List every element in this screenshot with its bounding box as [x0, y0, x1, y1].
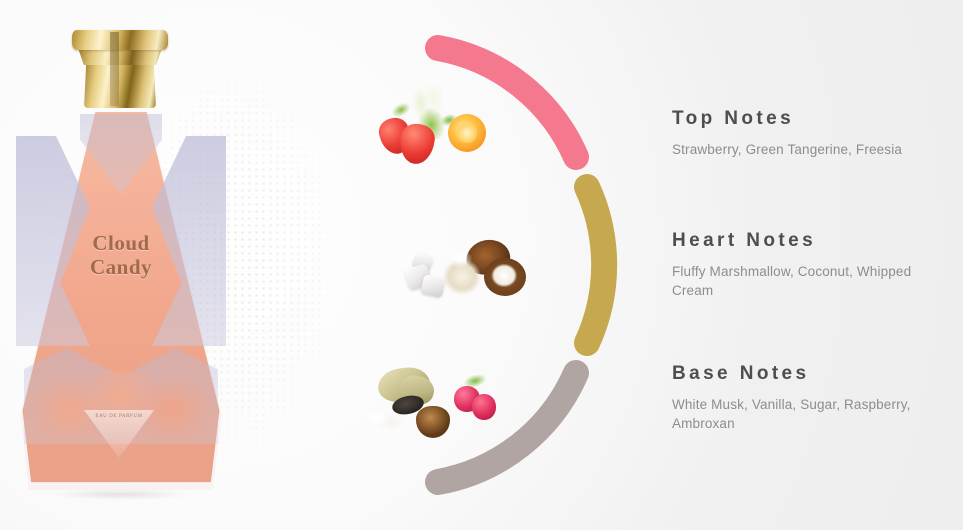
base-notes-block: Base Notes White Musk, Vanilla, Sugar, R…	[672, 363, 954, 433]
bottle-cap-neckband	[78, 48, 162, 65]
base-notes-ingredients	[362, 362, 512, 450]
sugar-icon	[364, 406, 408, 434]
notes-text-column: Top Notes Strawberry, Green Tangerine, F…	[672, 0, 954, 530]
whipped-cream-icon	[440, 250, 484, 296]
bottle-cap-body	[84, 64, 156, 108]
fragrance-notes-infographic: EAU DE PARFUM Cloud Candy	[0, 0, 963, 530]
strawberry-icon	[397, 122, 436, 166]
bottle-cap-highlight	[110, 32, 119, 106]
tangerine-flesh-icon	[457, 123, 477, 143]
heart-notes-block: Heart Notes Fluffy Marshmallow, Coconut,…	[672, 230, 954, 300]
bottle-cap-top	[72, 30, 168, 50]
base-notes-description: White Musk, Vanilla, Sugar, Raspberry, A…	[672, 395, 952, 433]
bottle-emblem-text: EAU DE PARFUM	[84, 414, 154, 419]
bottle-base-shadow	[22, 488, 220, 504]
top-notes-description: Strawberry, Green Tangerine, Freesia	[672, 140, 952, 159]
top-notes-title: Top Notes	[672, 108, 954, 130]
heart-notes-title: Heart Notes	[672, 230, 954, 252]
heart-notes-ingredients	[400, 232, 530, 308]
brand-line-two: Candy	[46, 255, 196, 279]
top-notes-ingredients	[368, 84, 500, 166]
raspberry-icon	[472, 394, 496, 420]
perfume-bottle: EAU DE PARFUM Cloud Candy	[6, 18, 236, 518]
heart-notes-description: Fluffy Marshmallow, Coconut, Whipped Cre…	[672, 262, 952, 300]
top-notes-block: Top Notes Strawberry, Green Tangerine, F…	[672, 108, 954, 159]
coconut-icon	[484, 258, 526, 296]
marshmallow-icon	[420, 274, 446, 298]
base-notes-title: Base Notes	[672, 363, 954, 385]
white-musk-icon	[416, 406, 450, 438]
brand-line-one: Cloud	[46, 231, 196, 255]
heart-notes-arc	[587, 187, 604, 343]
bottle-brand-label: Cloud Candy	[46, 231, 196, 279]
